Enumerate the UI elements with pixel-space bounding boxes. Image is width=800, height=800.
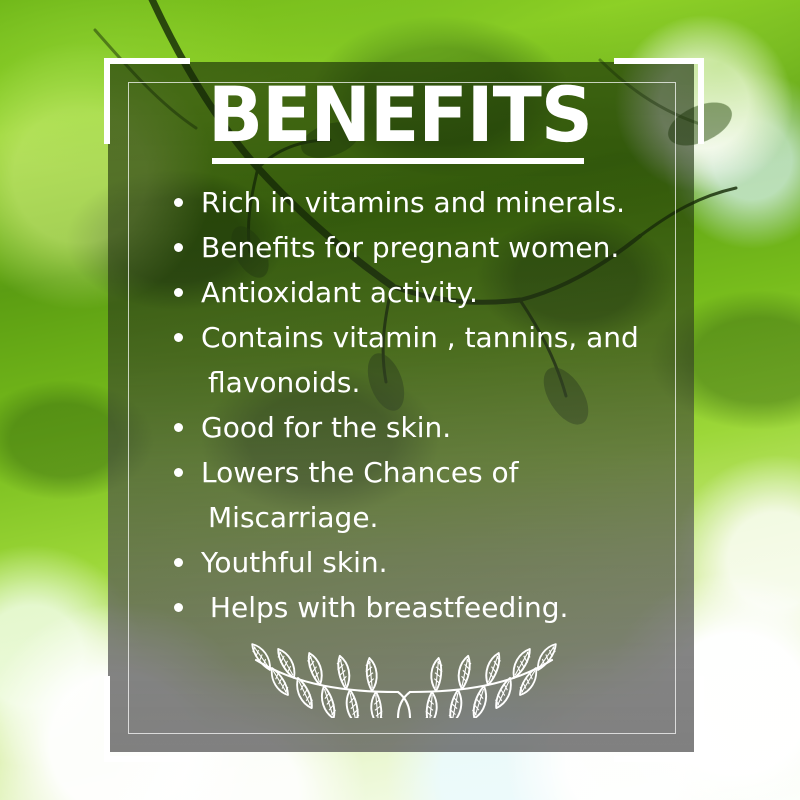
- list-item: Good for the skin.: [172, 405, 672, 450]
- bullet-dot-icon: [174, 333, 183, 342]
- list-item: Benefits for pregnant women.: [172, 225, 672, 270]
- list-item-label: Good for the skin.: [201, 411, 451, 444]
- bullet-dot-icon: [174, 603, 183, 612]
- list-item: Antioxidant activity.: [172, 270, 672, 315]
- list-item: Youthful skin.: [172, 540, 672, 585]
- bullet-dot-icon: [174, 288, 183, 297]
- list-item-label: Contains vitamin , tannins, and: [201, 321, 639, 354]
- list-item-label: Miscarriage.: [208, 501, 378, 534]
- bullet-dot-icon: [174, 558, 183, 567]
- list-item: flavonoids.: [172, 360, 672, 405]
- list-item-label: Lowers the Chances of: [201, 456, 519, 489]
- benefits-poster: BENEFITS Rich in vitamins and minerals.B…: [0, 0, 800, 800]
- list-item: Helps with breastfeeding.: [172, 585, 672, 630]
- list-item: Lowers the Chances of: [172, 450, 672, 495]
- title-underline-rule: [212, 158, 584, 164]
- list-item: Rich in vitamins and minerals.: [172, 180, 672, 225]
- list-item-label: Benefits for pregnant women.: [201, 231, 619, 264]
- list-item-label: Rich in vitamins and minerals.: [201, 186, 625, 219]
- bullet-dot-icon: [174, 468, 183, 477]
- list-item-label: Antioxidant activity.: [201, 276, 478, 309]
- bullet-dot-icon: [174, 198, 183, 207]
- benefits-list: Rich in vitamins and minerals.Benefits f…: [172, 180, 672, 630]
- list-item-label: Helps with breastfeeding.: [201, 591, 568, 624]
- list-item-label: Youthful skin.: [201, 546, 388, 579]
- page-title: BENEFITS: [20, 76, 780, 154]
- bullet-dot-icon: [174, 243, 183, 252]
- list-item: Miscarriage.: [172, 495, 672, 540]
- list-item-label: flavonoids.: [208, 366, 360, 399]
- list-item: Contains vitamin , tannins, and: [172, 315, 672, 360]
- laurel-branch-ornament: [248, 634, 560, 718]
- bullet-dot-icon: [174, 423, 183, 432]
